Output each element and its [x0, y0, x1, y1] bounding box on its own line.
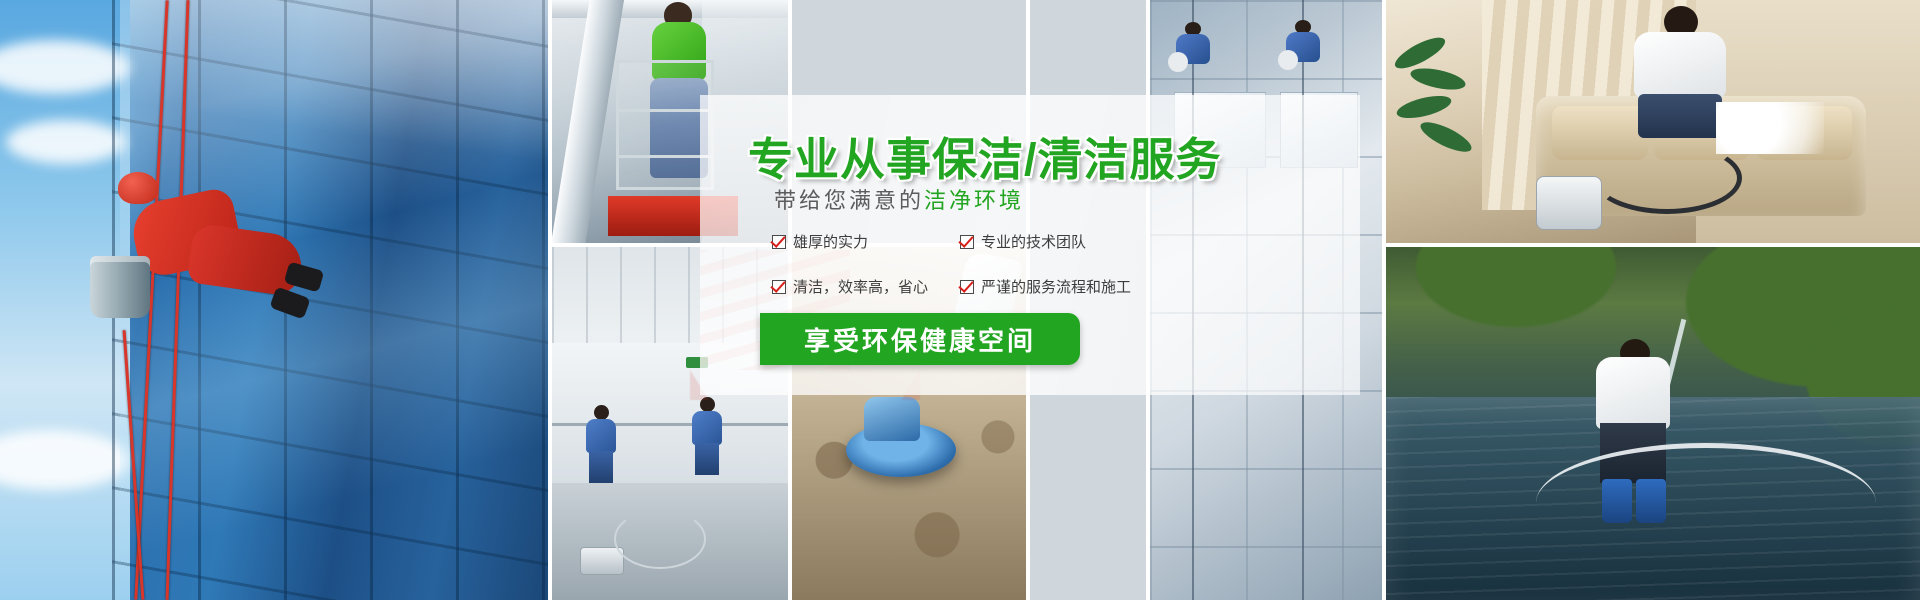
feature-row: 雄厚的实力 专业的技术团队: [772, 231, 1242, 252]
headline: 专业从事保洁/清洁服务: [748, 123, 1222, 188]
cleaner-figure: [692, 397, 722, 475]
cta-button[interactable]: 享受环保健康空间: [760, 313, 1080, 365]
checkbox-checked-icon: [960, 280, 974, 294]
banner-content: 专业从事保洁/清洁服务 带给您满意的洁净环境 雄厚的实力 专业的技术团队 清洁，…: [700, 95, 1380, 395]
checkbox-checked-icon: [960, 235, 974, 249]
collage-gutter: [548, 0, 552, 600]
feature-label: 专业的技术团队: [981, 231, 1086, 252]
worker-figure: [96, 170, 306, 355]
feature-label: 严谨的服务流程和施工: [981, 276, 1131, 297]
checkbox-checked-icon: [772, 235, 786, 249]
subtitle-plain: 带给您满意的: [774, 188, 924, 213]
photo-pond-cleaning: [1386, 247, 1920, 600]
feature-list: 雄厚的实力 专业的技术团队 清洁，效率高，省心 严谨的服务流程和施工: [772, 231, 1242, 321]
checkbox-checked-icon: [772, 280, 786, 294]
photo-sofa-cleaning: [1386, 0, 1920, 243]
photo-window-cleaner: [0, 0, 548, 600]
feature-item: 雄厚的实力: [772, 231, 960, 252]
subtitle-highlight: 洁净环境: [924, 188, 1024, 213]
feature-label: 雄厚的实力: [793, 231, 868, 252]
subtitle: 带给您满意的洁净环境: [774, 183, 1024, 215]
feature-item: 专业的技术团队: [960, 231, 1086, 252]
collage-gutter: [1386, 243, 1920, 247]
collage-gutter: [1382, 0, 1386, 600]
plant-decor: [1392, 36, 1496, 186]
feature-row: 清洁，效率高，省心 严谨的服务流程和施工: [772, 276, 1242, 297]
worker-figure: [1286, 20, 1320, 76]
feature-label: 清洁，效率高，省心: [793, 276, 928, 297]
worker-figure: [1176, 22, 1210, 78]
technician-figure: [1634, 6, 1726, 132]
feature-item: 清洁，效率高，省心: [772, 276, 960, 297]
cleaning-service-banner: 专业从事保洁/清洁服务 带给您满意的洁净环境 雄厚的实力 专业的技术团队 清洁，…: [0, 0, 1920, 600]
feature-item: 严谨的服务流程和施工: [960, 276, 1131, 297]
cleaner-figure: [586, 405, 616, 483]
